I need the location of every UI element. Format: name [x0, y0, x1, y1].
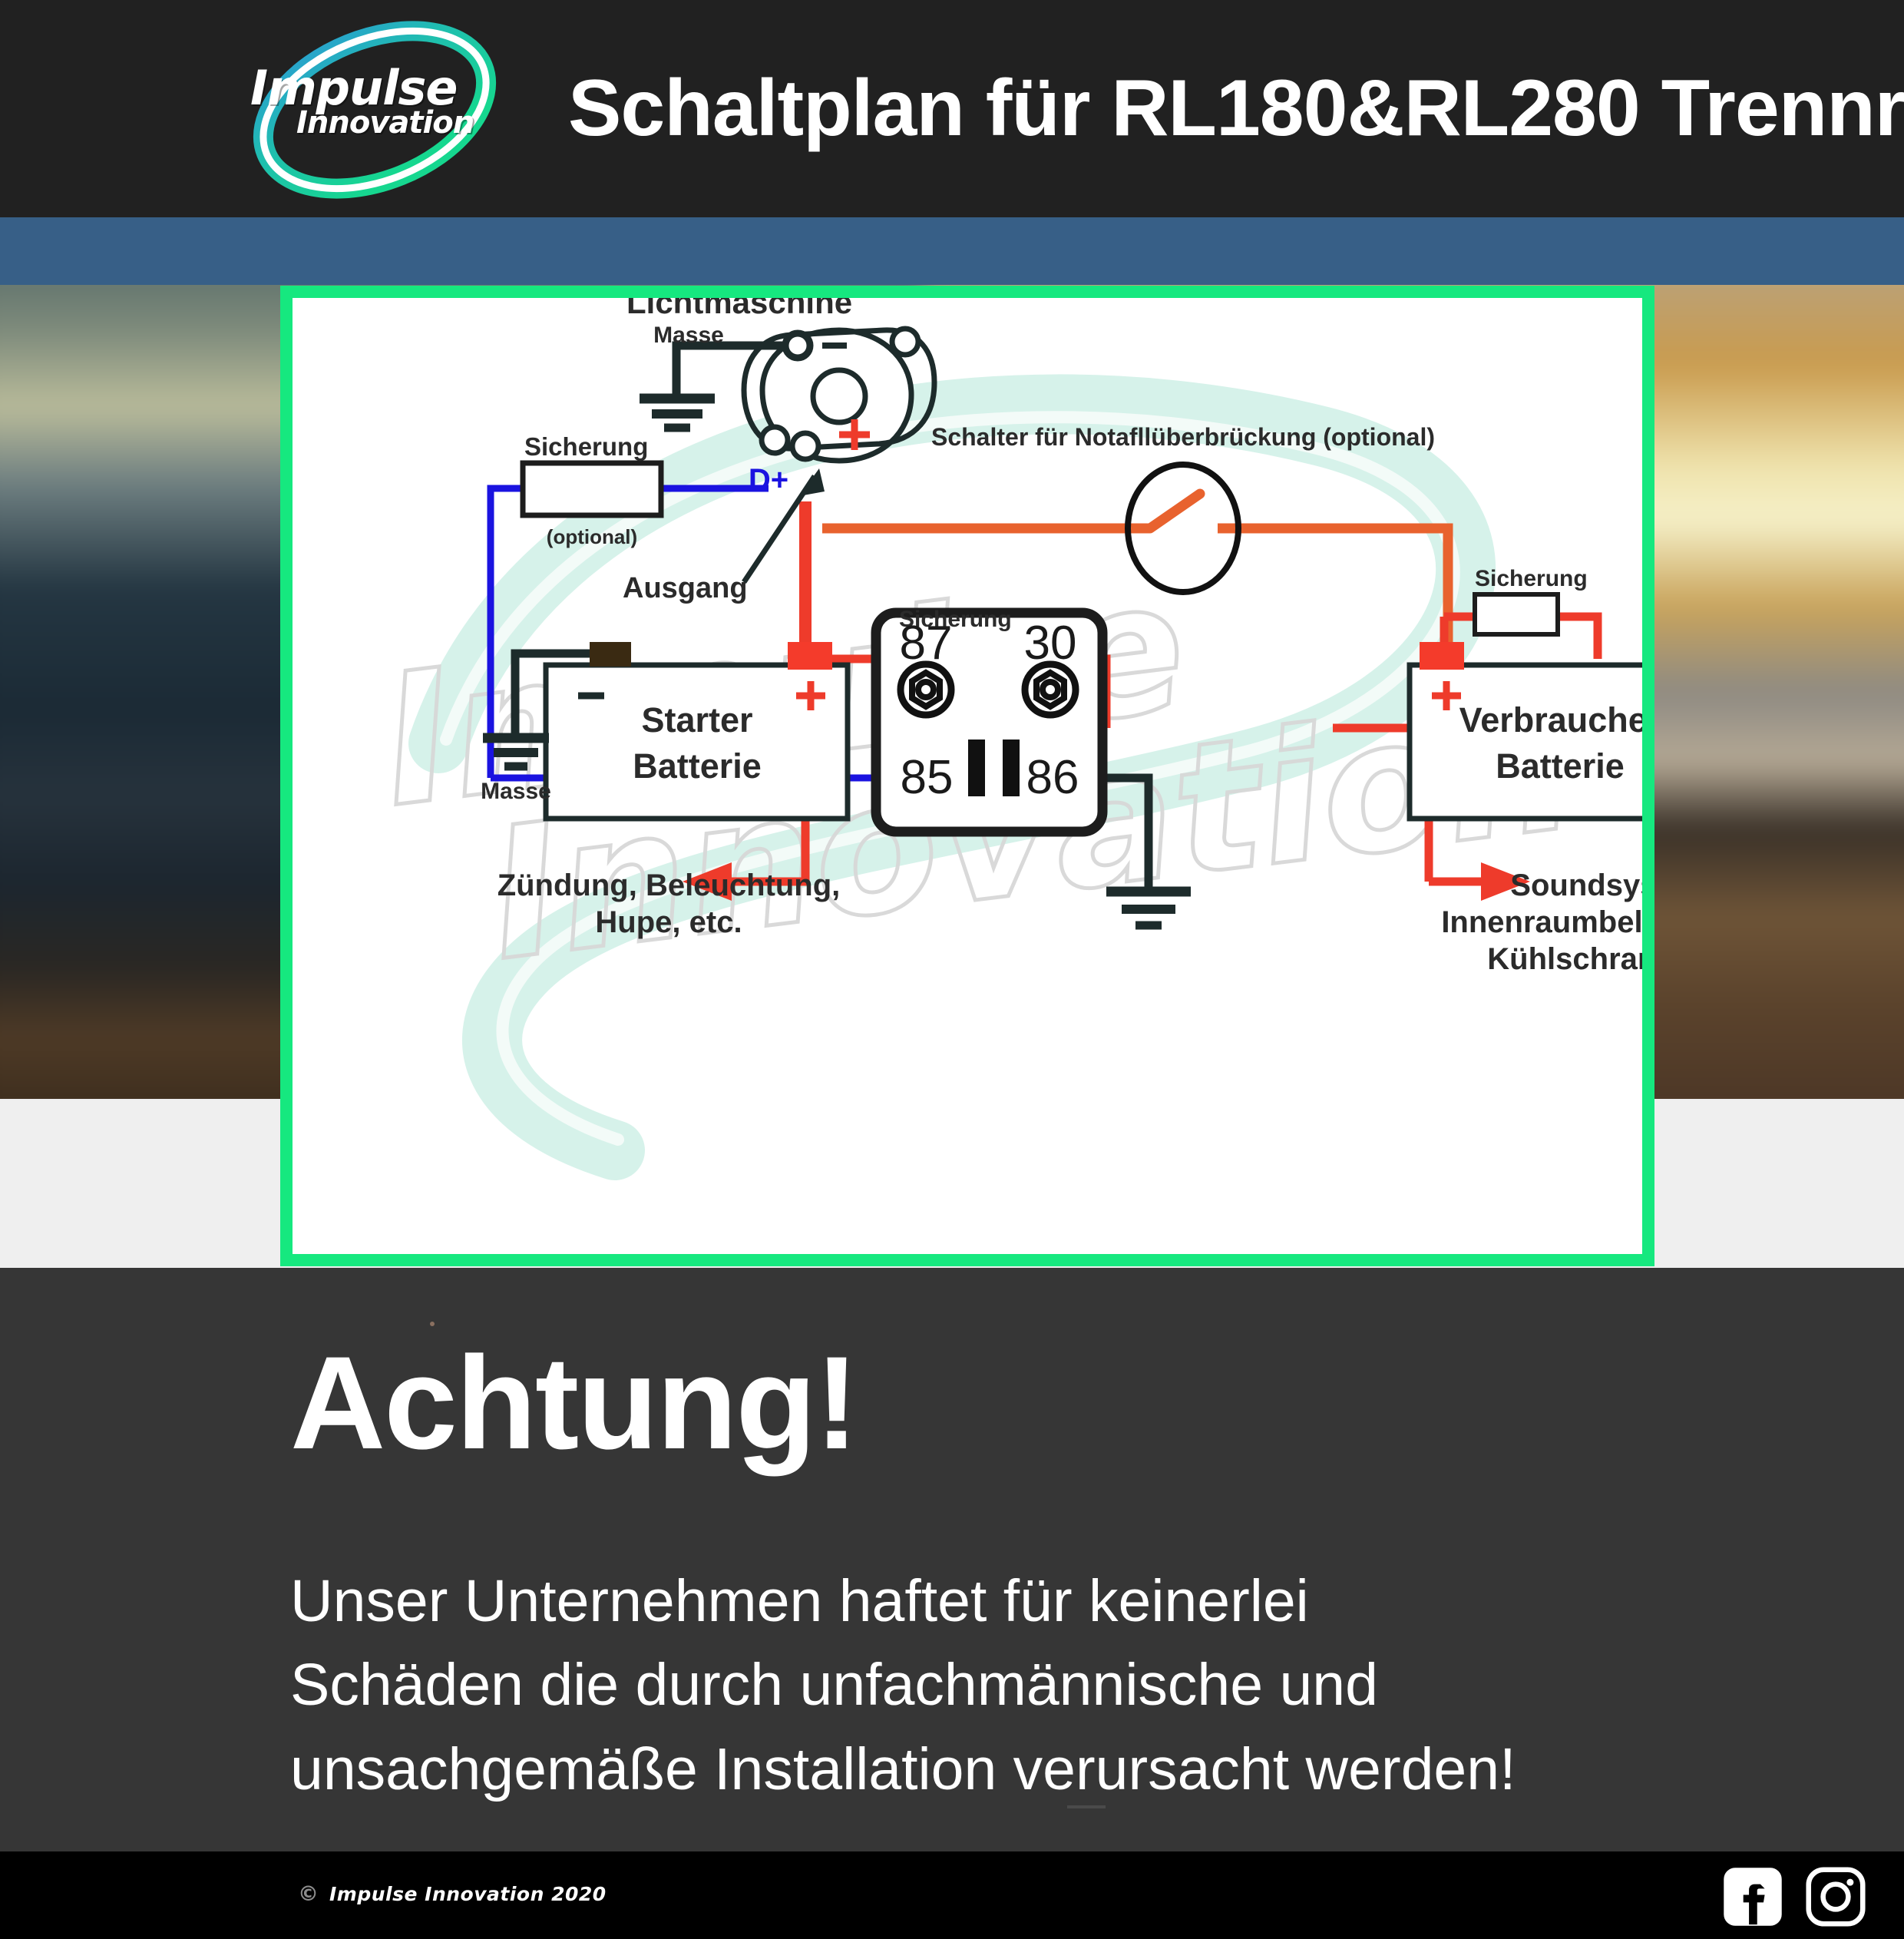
- label-lichtmaschine: Lichtmaschine: [626, 298, 852, 320]
- instagram-icon[interactable]: [1804, 1865, 1867, 1928]
- fuse-left: [523, 463, 661, 515]
- wiring-diagram-svg: Impulse Innovation: [293, 298, 1642, 1254]
- page-footer: © Impulse Innovation 2020: [0, 1851, 1904, 1939]
- warning-line-1: Unser Unternehmen haftet für keinerlei: [290, 1560, 1749, 1643]
- copyright-block: © Impulse Innovation 2020: [298, 1882, 607, 1906]
- label-loads-left-line1: Zündung, Beleuchtung,: [497, 869, 841, 902]
- wiring-diagram-card: Impulse Innovation: [280, 286, 1654, 1266]
- relay-terminal-30-label: 30: [1024, 617, 1077, 670]
- relay-terminal-86-blade: [1003, 740, 1020, 796]
- infographic-page: Impulse Innovation Schaltplan für RL180&…: [0, 0, 1904, 1939]
- facebook-icon[interactable]: [1721, 1865, 1784, 1928]
- ground-symbol-alternator: [640, 399, 715, 428]
- label-starter-battery-line2: Batterie: [633, 746, 762, 786]
- fuse-right: [1475, 594, 1558, 634]
- switch-lever-icon: [1150, 494, 1200, 528]
- social-links: [1721, 1865, 1867, 1928]
- label-consumer-battery-line1: Verbraucher: [1459, 700, 1642, 740]
- warning-body: Unser Unternehmen haftet für keinerlei S…: [290, 1560, 1749, 1812]
- page-header: Impulse Innovation Schaltplan für RL180&…: [0, 0, 1904, 217]
- copyright-icon: ©: [298, 1882, 319, 1906]
- warning-title: Achtung!: [290, 1337, 858, 1469]
- label-loads-left-line2: Hupe, etc.: [595, 905, 742, 939]
- label-loads-right-line3: Kühlschrank, etc.: [1487, 942, 1642, 976]
- label-fuse-left: Sicherung: [524, 432, 648, 461]
- relay-terminal-85-label: 85: [901, 751, 954, 804]
- page-title: Schaltplan für RL180&RL280 Trennrelais: [568, 0, 1873, 217]
- label-fuse-left-optional: (optional): [547, 525, 637, 548]
- label-ausgang: Ausgang: [623, 572, 748, 604]
- relay-terminal-85-blade: [968, 740, 985, 796]
- arrow-pointer-icon: [799, 468, 825, 496]
- label-starter-battery-line1: Starter: [641, 700, 752, 740]
- copyright-text: Impulse Innovation 2020: [329, 1883, 607, 1905]
- relay-terminal-86-label: 86: [1026, 751, 1079, 804]
- label-loads-right-line1: Soundsystem,: [1510, 869, 1642, 902]
- warning-section: Achtung! Unser Unternehmen haftet für ke…: [0, 1268, 1904, 1851]
- warning-line-3: unsachgemäße Installation verursacht wer…: [290, 1728, 1749, 1812]
- decorative-divider: [1067, 1805, 1106, 1808]
- label-bypass-switch: Schalter für Notafllüberbrückung (option…: [931, 423, 1435, 451]
- decorative-dot: [430, 1322, 435, 1326]
- relay-terminal-30-stud: [1025, 664, 1076, 715]
- brand-logo: Impulse Innovation: [221, 9, 528, 210]
- logo-ring-icon: [221, 9, 528, 210]
- warning-line-2: Schäden die durch unfachmännische und: [290, 1643, 1749, 1727]
- label-alternator-dplus: D+: [749, 463, 788, 497]
- relay-terminal-87-stud: [901, 664, 951, 715]
- label-loads-right-line2: Innenraumbeleuchtung,: [1441, 905, 1642, 939]
- label-alternator-masse: Masse: [653, 323, 724, 348]
- wiring-diagram-canvas: Impulse Innovation: [293, 298, 1642, 1254]
- relay-terminal-87-label: 87: [900, 617, 953, 670]
- label-consumer-battery-line2: Batterie: [1496, 746, 1625, 786]
- accent-bar: [0, 217, 1904, 285]
- label-fuse-right: Sicherung: [1475, 566, 1588, 591]
- label-starter-masse: Masse: [481, 779, 551, 804]
